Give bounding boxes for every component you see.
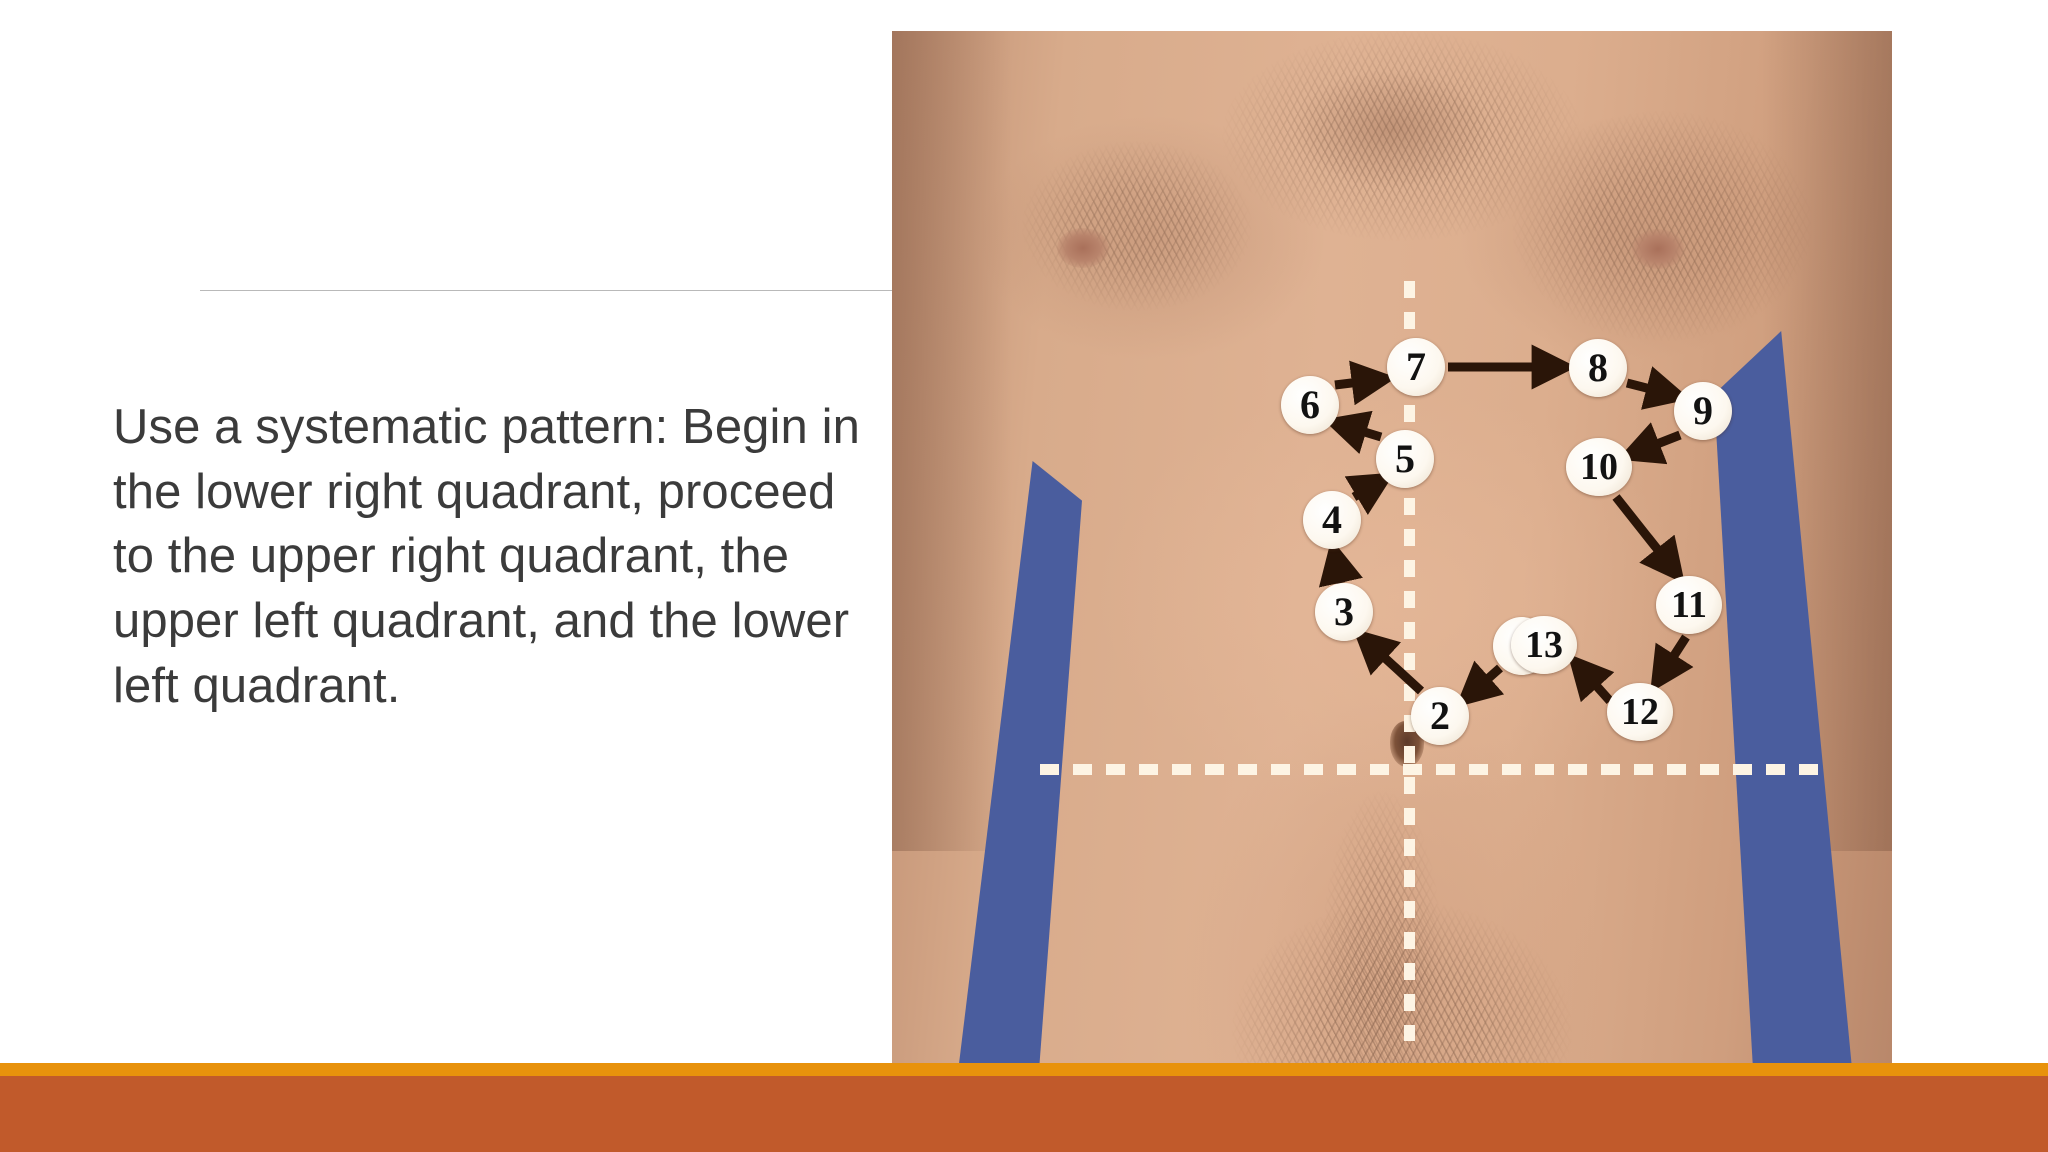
palpation-marker-9: 9 [1674, 382, 1732, 440]
presentation-slide: Use a systematic pattern: Begin in the l… [0, 0, 2048, 1152]
palpation-marker-4: 4 [1303, 491, 1361, 549]
palpation-marker-13: 13 [1511, 616, 1577, 674]
palpation-marker-12: 12 [1607, 683, 1673, 741]
palpation-marker-11: 11 [1656, 576, 1722, 634]
palpation-marker-6: 6 [1281, 376, 1339, 434]
content-divider-rule [200, 290, 900, 291]
abdominal-palpation-figure: 12345678910111213 [892, 31, 1892, 1121]
palpation-marker-10: 10 [1566, 438, 1632, 496]
palpation-sequence-arrows [892, 31, 1892, 1121]
slide-body-text: Use a systematic pattern: Begin in the l… [113, 395, 873, 718]
palpation-marker-7: 7 [1387, 338, 1445, 396]
accent-bar-amber [0, 1063, 2048, 1076]
accent-bar-terracotta [0, 1076, 2048, 1152]
palpation-marker-8: 8 [1569, 339, 1627, 397]
palpation-marker-5: 5 [1376, 430, 1434, 488]
palpation-marker-2: 2 [1411, 687, 1469, 745]
palpation-marker-3: 3 [1315, 583, 1373, 641]
